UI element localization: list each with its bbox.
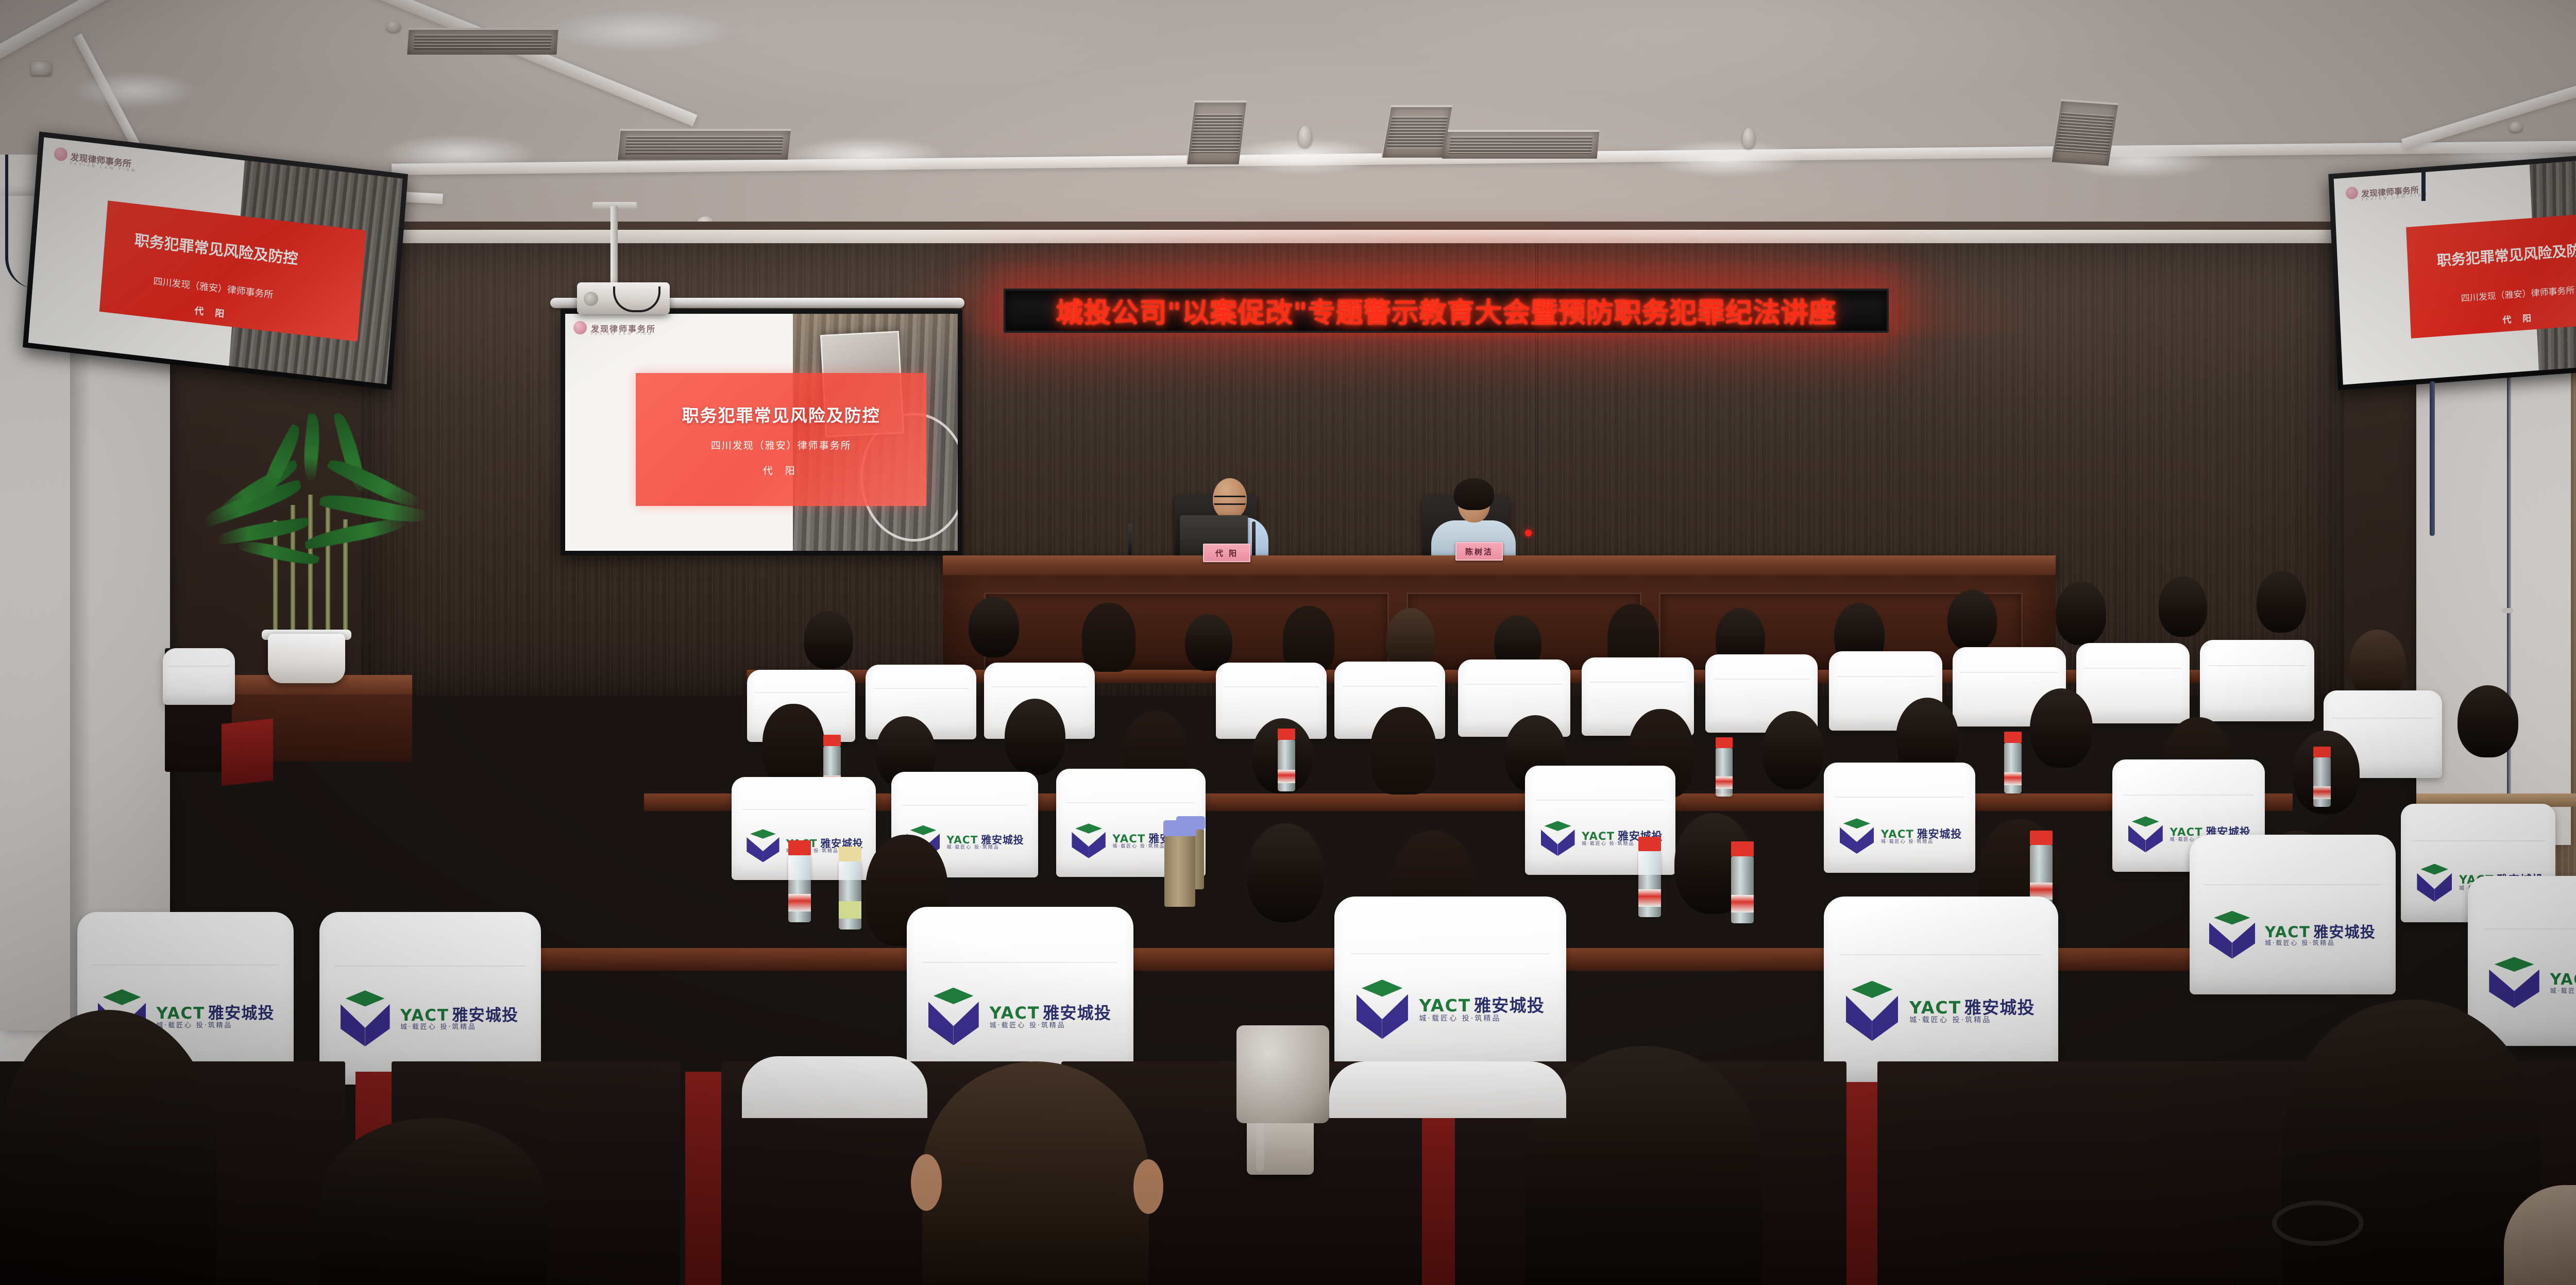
bottle-label (1278, 770, 1295, 783)
plant-stem (308, 495, 313, 639)
brand-tagline: 城·载匠心 投·筑精品 (156, 1022, 274, 1029)
brand-en: YACT (2265, 924, 2311, 940)
seat: YACT 雅安城投 城·载匠心 投·筑精品 (2468, 876, 2576, 1046)
brand-tagline: 城·载匠心 投·筑精品 (1909, 1017, 2035, 1024)
side-chair-cover (163, 648, 235, 705)
chair-wordmark: YACT 雅安城投 城·载匠心 投·筑精品 (156, 1005, 274, 1029)
foreground-chair-frame (685, 1072, 721, 1285)
smoke-detector (386, 21, 401, 32)
bottle-label (1638, 889, 1661, 906)
slide-title-band: 职务犯罪常见风险及防控 四川发现（雅安）律师事务所 代 阳 (636, 373, 926, 506)
foreground-chair-frame (1846, 1082, 1877, 1285)
chair-wordmark: YACT 雅安城投 城·载匠心 投·筑精品 (2265, 924, 2376, 946)
cube-icon (746, 829, 780, 863)
desk-microphone (1252, 521, 1256, 556)
ceiling-light-glow (546, 10, 732, 52)
seat-cover: YACT 雅安城投 城·载匠心 投·筑精品 (319, 912, 541, 1085)
conference-hall-photo: 城投公司"以案促改"专题警示教育大会暨预防职务犯罪纪法讲座 发现律师事务所 FA… (0, 0, 2576, 1285)
plant-pot (268, 634, 345, 683)
foreground-chair (1877, 1061, 2238, 1285)
host-hair (1454, 478, 1494, 510)
water-bottle (839, 861, 861, 929)
air-vent (1442, 130, 1600, 159)
chair-wordmark: YACT 雅安城投 城·载匠心 投·筑精品 (2550, 972, 2576, 994)
brand-en: YACT (990, 1005, 1040, 1022)
audience-head (1005, 699, 1065, 775)
tv-right-wall-cable (2430, 381, 2435, 536)
wall-seam (2123, 242, 2125, 696)
brand-tagline: 城·载匠心 投·筑精品 (1881, 840, 1962, 844)
bottle-cap (2030, 831, 2053, 845)
tv-left-slide: 发现律师事务所 FAXIAN LAW FIRM 职务犯罪常见风险及防控 四川发现… (28, 137, 403, 384)
name-placard: 陈树洁 (1455, 542, 1503, 561)
audience-head (969, 597, 1019, 657)
plant-frond (216, 517, 310, 546)
presentation-slide: 发现律师事务所 FAXIAN LAW FIRM 职务犯罪常见风险及防控 四川发现… (565, 314, 958, 551)
seat-cover: YACT 雅安城投 城·载匠心 投·筑精品 (1824, 897, 2058, 1082)
law-firm-logo-icon (573, 321, 587, 334)
chair-logo: YACT 雅安城投 城·载匠心 投·筑精品 (1845, 978, 2046, 1045)
brand-en: YACT (2550, 972, 2576, 988)
seat-cover: YACT 雅安城投 城·载匠心 投·筑精品 (1334, 897, 1566, 1079)
audience-head (2159, 576, 2207, 637)
brand-en: YACT (1909, 999, 1961, 1017)
bottle-cap (839, 847, 861, 861)
name-placard: 代 阳 (1203, 544, 1250, 562)
cube-icon (1839, 818, 1874, 854)
audience-head (1247, 823, 1324, 922)
led-banner-text: 城投公司"以案促改"专题警示教育大会暨预防职务犯罪纪法讲座 (1056, 291, 1836, 330)
side-chair-seat (222, 719, 273, 786)
cube-icon (1845, 981, 1900, 1042)
smoke-detector (2509, 122, 2522, 132)
status-indicator-light (1525, 530, 1532, 536)
brand-tagline: 城·载匠心 投·筑精品 (990, 1022, 1112, 1029)
smoke-detector (1742, 128, 1755, 148)
brand-cn: 雅安城投 (452, 1007, 518, 1024)
thermos-flask (1164, 835, 1195, 907)
cube-icon (1071, 823, 1106, 859)
bottle-label (788, 894, 811, 911)
foreground-white-shirt (742, 1056, 927, 1118)
seat: YACT 雅安城投 城·载匠心 投·筑精品 (907, 907, 1133, 1085)
seat: YACT 雅安城投 城·载匠心 投·筑精品 (1824, 763, 1975, 873)
chair-wordmark: YACT 雅安城投 城·载匠心 投·筑精品 (1909, 999, 2035, 1024)
tv-right-slide: 发现律师事务所 FAXIAN LAW FIRM 职务犯罪常见风险及防控 四川发现… (2334, 153, 2576, 384)
seat: YACT 雅安城投 城·载匠心 投·筑精品 (319, 912, 541, 1085)
brand-en: YACT (1582, 831, 1615, 842)
air-vent (2050, 99, 2118, 166)
tv-slide-speaker: 代 阳 (2502, 311, 2536, 326)
audience-head (1082, 603, 1136, 672)
security-camera (31, 62, 52, 75)
chair-logo: YACT 雅安城投 城·载匠心 投·筑精品 (1355, 977, 1555, 1043)
chair-wordmark: YACT 雅安城投 城·载匠心 投·筑精品 (990, 1005, 1112, 1029)
audience-head-foreground (0, 1010, 216, 1285)
chair-wordmark: YACT 雅安城投 城·载匠心 投·筑精品 (1419, 997, 1545, 1022)
brand-tagline: 城·载匠心 投·筑精品 (1419, 1015, 1545, 1023)
seat-cover: YACT 雅安城投 城·载匠心 投·筑精品 (2468, 876, 2576, 1046)
audience-head (2458, 685, 2518, 757)
bottle-cap (788, 840, 811, 855)
ceiling-light-glow (1649, 140, 1803, 176)
brand-cn: 雅安城投 (2313, 924, 2376, 940)
water-bottle (1731, 856, 1754, 923)
bottle-cap (1278, 729, 1295, 740)
cube-icon (1355, 979, 1409, 1040)
chair-wordmark: YACT 雅安城投 城·载匠心 投·筑精品 (400, 1007, 518, 1031)
tv-left-cable (5, 155, 70, 289)
eyeglasses-icon (2272, 1201, 2364, 1246)
brand-en: YACT (1112, 833, 1145, 844)
brand-tagline: 城·载匠心 投·筑精品 (946, 846, 1024, 850)
audience-head (2030, 688, 2093, 768)
audience-head (1762, 711, 1824, 789)
brand-cn: 雅安城投 (1917, 829, 1962, 840)
ceiling-light-glow (381, 135, 536, 171)
slide-title: 职务犯罪常见风险及防控 (682, 402, 880, 427)
audience-head (2349, 630, 2406, 699)
plant-frond (303, 517, 408, 550)
air-vent (1186, 100, 1246, 164)
seat: YACT 雅安城投 城·载匠心 投·筑精品 (1334, 897, 1566, 1079)
air-vent (617, 129, 791, 160)
water-bottle (788, 855, 811, 922)
audience-head-foreground (319, 1118, 546, 1285)
led-banner: 城投公司"以案促改"专题警示教育大会暨预防职务犯罪纪法讲座 (1004, 289, 1889, 333)
bottle-cap (823, 735, 841, 746)
bottle-label (1716, 776, 1733, 789)
brand-en: YACT (1419, 997, 1471, 1015)
bottle-cap (1716, 737, 1733, 748)
wall-cove-light (361, 230, 2349, 243)
audience-head-foreground (922, 1061, 1149, 1285)
brand-cn: 雅安城投 (1964, 999, 2035, 1017)
bottle-label (2004, 772, 2022, 785)
seat-cover: YACT 雅安城投 城·载匠心 投·筑精品 (2190, 835, 2396, 994)
brand-en: YACT (1881, 829, 1914, 840)
seat-cover (2076, 643, 2190, 723)
seat: YACT 雅安城投 城·载匠心 投·筑精品 (1824, 897, 2058, 1082)
ceiling-light-glow (788, 137, 943, 173)
slide-organization: 四川发现（雅安）律师事务所 (711, 438, 852, 452)
law-firm-logo-subtext: FAXIAN LAW FIRM (591, 332, 653, 336)
chair-logo: YACT 雅安城投 城·载匠心 投·筑精品 (2208, 908, 2385, 962)
plant-stem (326, 505, 330, 639)
air-vent (1381, 105, 1452, 158)
bottle-cap (2313, 747, 2331, 757)
plant-stem (273, 520, 278, 639)
seat: YACT 雅安城投 城·载匠心 投·筑精品 (2190, 835, 2396, 994)
foreground-bag (1236, 1025, 1329, 1123)
audience-head (762, 704, 824, 783)
slide-speaker: 代 阳 (763, 463, 800, 477)
bottle-label (839, 901, 861, 919)
water-bottle (1638, 851, 1661, 917)
brand-cn: 雅安城投 (208, 1005, 275, 1022)
seat-cover (2200, 640, 2314, 721)
projection-screen: 发现律师事务所 FAXIAN LAW FIRM 职务犯罪常见风险及防控 四川发现… (561, 309, 962, 555)
audience-ear (911, 1154, 942, 1211)
audience-head (1185, 614, 1232, 671)
chair-logo: YACT 雅安城投 城·载匠心 投·筑精品 (927, 985, 1122, 1049)
foreground-white-shirt (1329, 1061, 1566, 1118)
brand-cn: 雅安城投 (1043, 1005, 1111, 1022)
water-bottle (2004, 743, 2022, 793)
cube-icon (2488, 957, 2540, 1009)
air-vent (406, 28, 558, 55)
bottle-label (1731, 895, 1754, 912)
projector-lens-icon (584, 292, 598, 306)
chair-logo: YACT 雅安城投 城·载匠心 投·筑精品 (2488, 954, 2576, 1012)
brand-cn: 雅安城投 (981, 835, 1024, 846)
cube-icon (2208, 911, 2256, 960)
bottle-cap (1731, 841, 1754, 856)
brand-tagline: 城·载匠心 投·筑精品 (2550, 988, 2576, 994)
desk-microphone (1128, 523, 1132, 555)
audience-head (804, 611, 853, 669)
bottle-cap (2004, 732, 2022, 743)
water-bottle (1278, 740, 1295, 791)
brand-en: YACT (400, 1007, 449, 1024)
water-bottle (2313, 757, 2331, 807)
seat-cover: YACT 雅安城投 城·载匠心 投·筑精品 (1824, 763, 1975, 873)
projector-mount-pole (611, 206, 618, 289)
chair-logo: YACT 雅安城投 城·载匠心 投·筑精品 (1839, 816, 1966, 857)
audience-head (1370, 707, 1436, 794)
cube-icon (1540, 821, 1575, 856)
bottle-label (2313, 786, 2331, 799)
brand-tagline: 城·载匠心 投·筑精品 (2265, 940, 2376, 946)
tv-left: 发现律师事务所 FAXIAN LAW FIRM 职务犯罪常见风险及防控 四川发现… (23, 131, 408, 390)
ceiling-light-glow (72, 72, 196, 108)
potted-palm (180, 428, 438, 644)
cube-icon (927, 988, 980, 1046)
tv-law-firm-logo-icon (2345, 187, 2358, 200)
chair-wordmark: YACT 雅安城投 城·载匠心 投·筑精品 (1881, 829, 1962, 844)
brand-tagline: 城·载匠心 投·筑精品 (400, 1024, 518, 1031)
water-bottle (1716, 748, 1733, 797)
bottle-cap (1638, 837, 1661, 851)
audience-head (1947, 589, 1997, 651)
audience-ear (1133, 1159, 1163, 1214)
thermos-cap (1163, 820, 1197, 836)
cube-icon (2128, 816, 2164, 853)
seat-cover: YACT 雅安城投 城·载匠心 投·筑精品 (907, 907, 1133, 1085)
audience-head (2257, 571, 2306, 633)
brand-en: YACT (946, 835, 978, 846)
smoke-detector (1298, 126, 1312, 147)
chair-wordmark: YACT 雅安城投 城·载匠心 投·筑精品 (946, 835, 1024, 850)
speaker-glasses-icon (1214, 496, 1246, 505)
door-handle (2502, 608, 2513, 613)
tv-right: 发现律师事务所 FAXIAN LAW FIRM 职务犯罪常见风险及防控 四川发现… (2328, 148, 2576, 391)
chair-logo: YACT 雅安城投 城·载匠心 投·筑精品 (340, 988, 530, 1050)
cube-icon (2416, 864, 2453, 903)
tv-slide-title-band (2406, 209, 2576, 339)
audience-head (2056, 581, 2106, 645)
tv-right-cable (2421, 170, 2426, 201)
brand-cn: 雅安城投 (1474, 997, 1545, 1015)
brand-en: YACT (156, 1005, 205, 1022)
cube-icon (340, 990, 391, 1047)
